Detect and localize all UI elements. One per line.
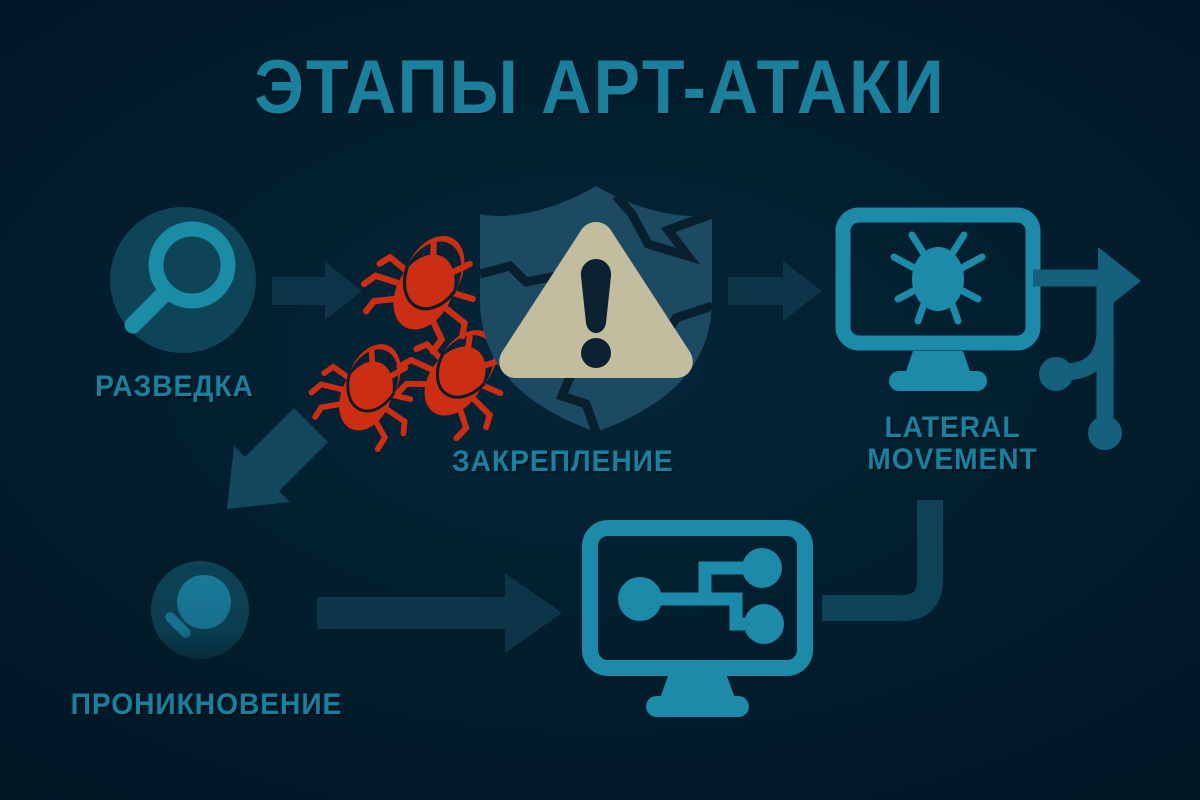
apt-attack-stages-infographic: ЭТАПЫ APT-АТАКИ РА (0, 0, 1200, 800)
network-diagram-glyph (618, 548, 784, 644)
network-monitor-icon[interactable] (0, 0, 1200, 800)
